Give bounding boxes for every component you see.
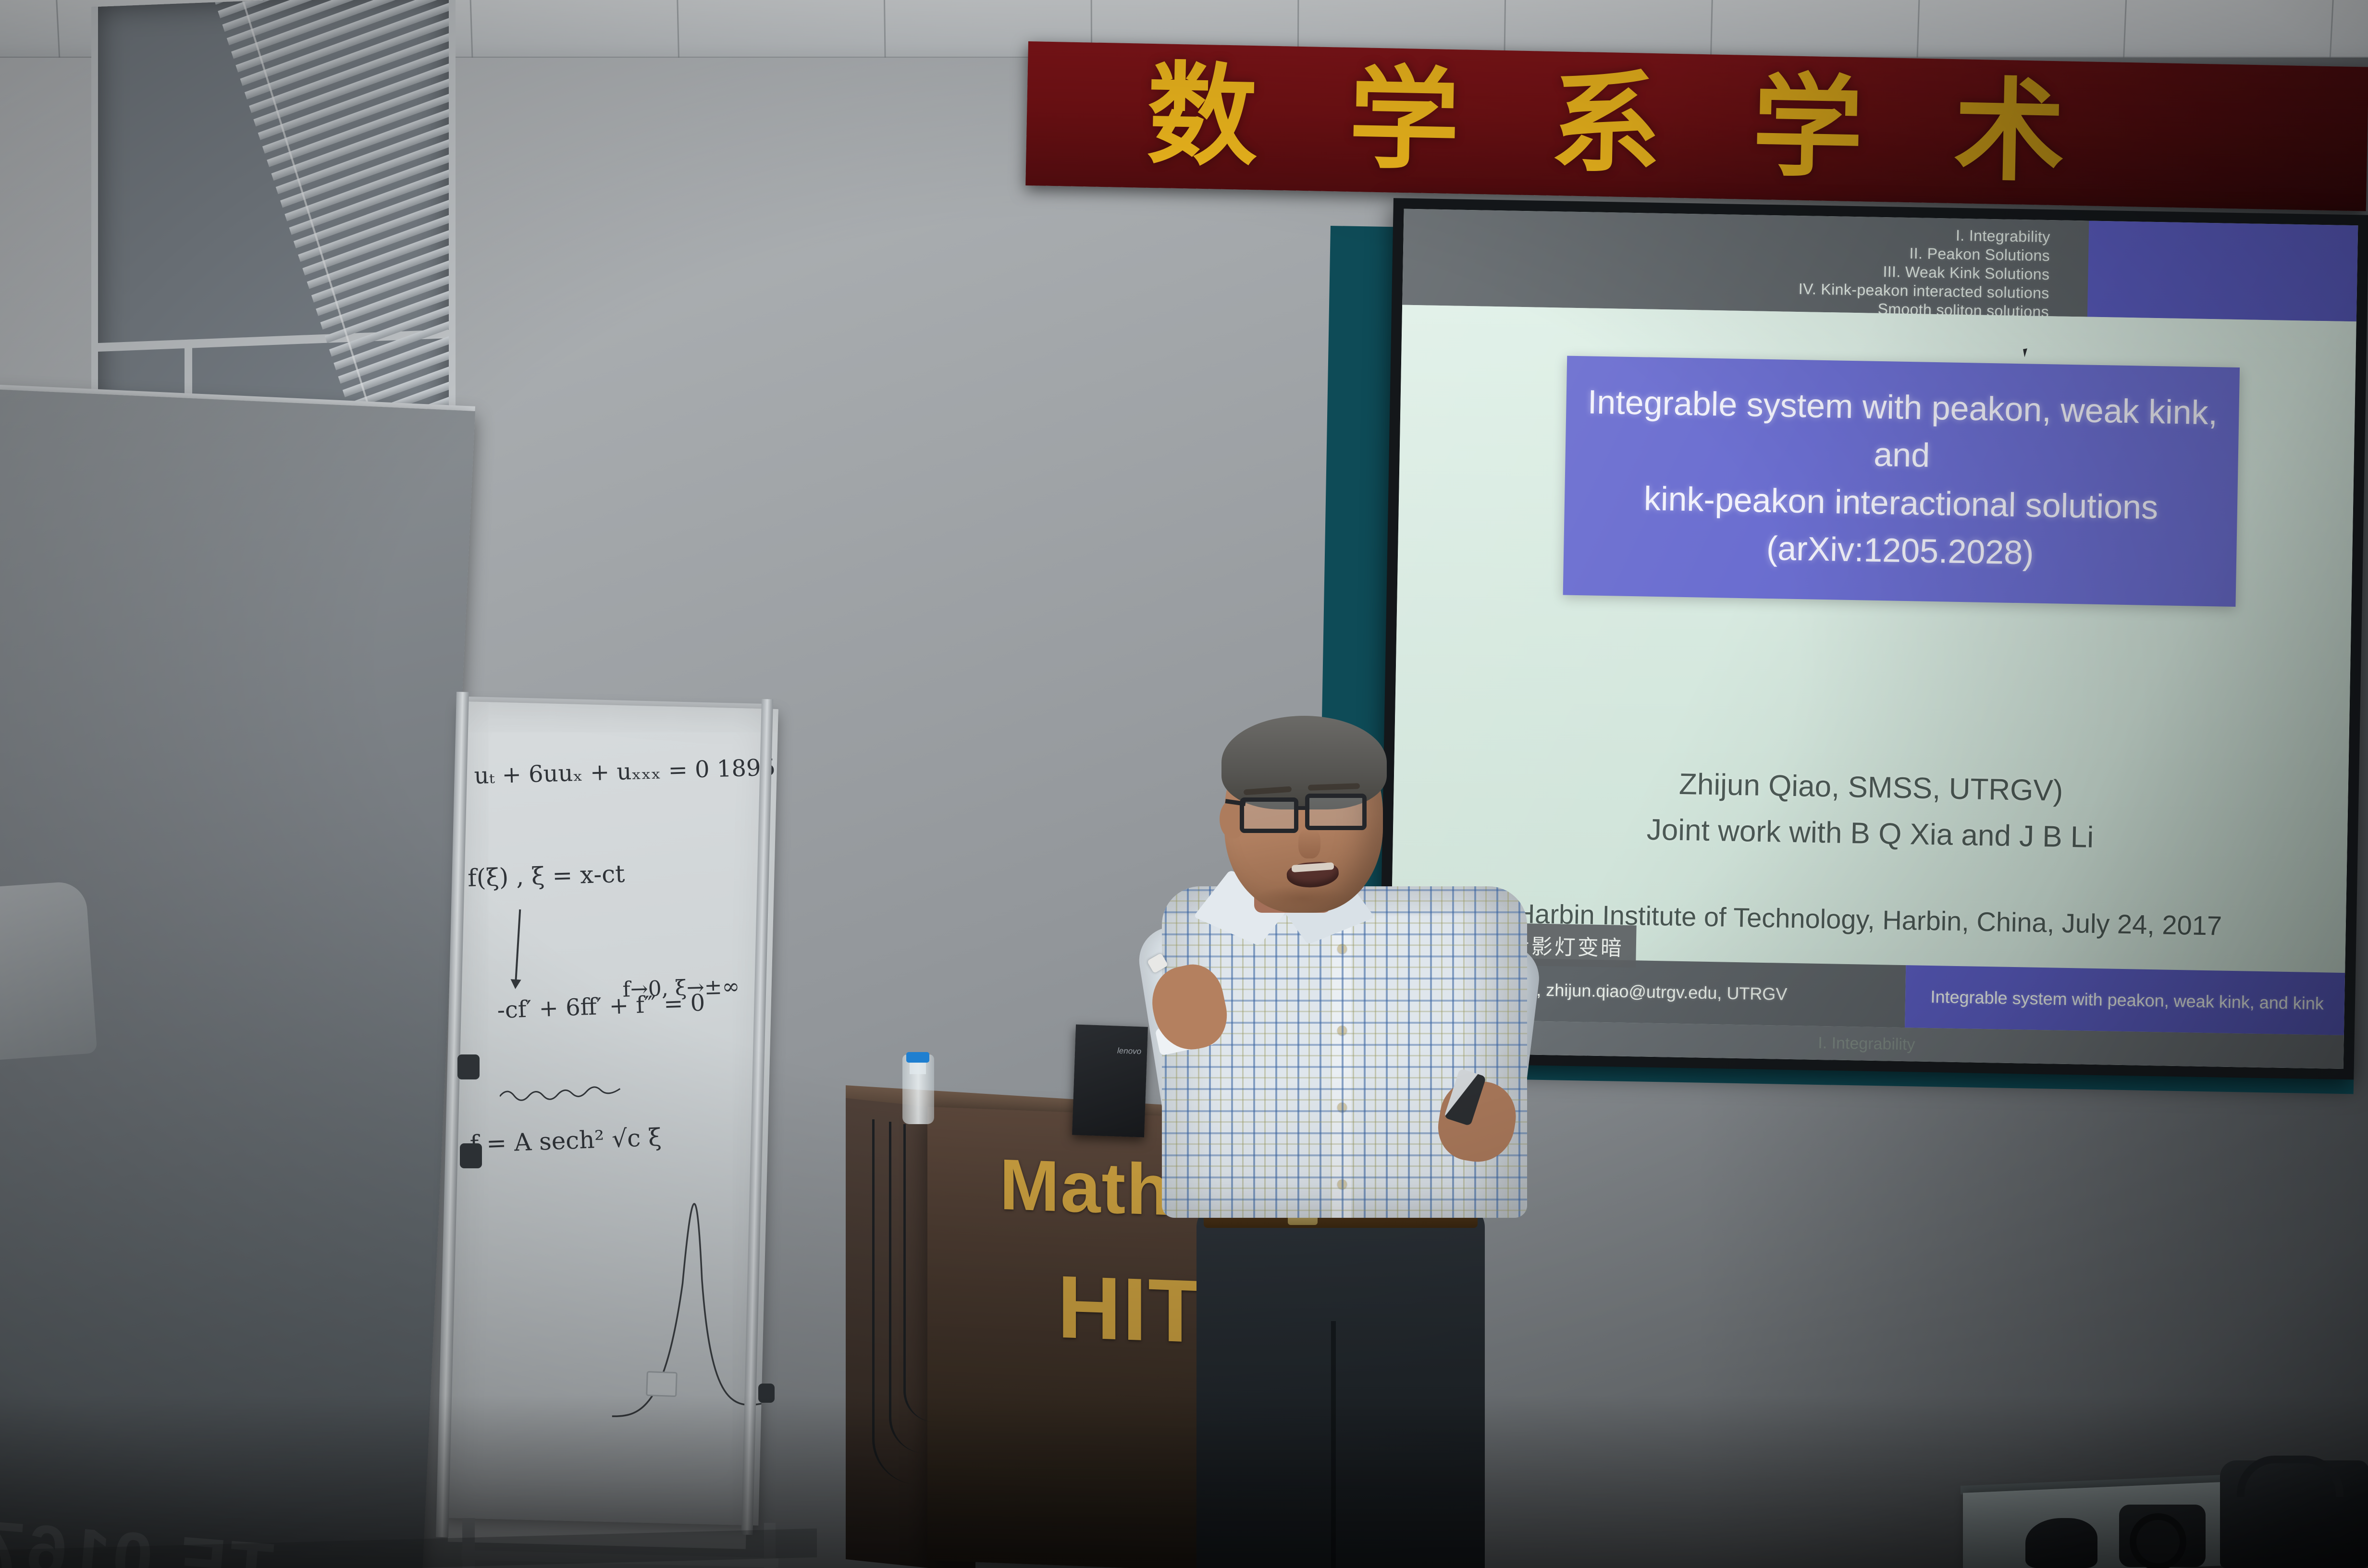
mouse-cursor-icon <box>2023 348 2032 357</box>
bag-on-left <box>0 881 97 1060</box>
whiteboard-height-knob-top[interactable] <box>457 1054 480 1079</box>
speaker-chin-shadow <box>1254 885 1350 912</box>
wall-power-socket[interactable] <box>646 1371 678 1397</box>
speaker-shirt <box>1162 886 1527 1218</box>
lecture-hall-photo: 数 学 系 学 术 I. Integrability II. Peakon So… <box>0 0 2368 1568</box>
podium-cable-3 <box>903 1124 935 1422</box>
footer-section: I. Integrability <box>1818 1033 1915 1054</box>
speaker-glasses-right-lens <box>1305 794 1367 830</box>
whiteboard-underline-squiggle <box>500 1082 625 1104</box>
floor-shadow <box>0 1395 2368 1568</box>
whiteboard-limit-note: f→0, ξ→±∞ <box>622 974 740 1002</box>
speaker-glasses-left-lens <box>1240 797 1298 833</box>
speaker-glasses-bridge <box>1297 806 1309 810</box>
slide-title-box: Integrable system with peakon, weak kink… <box>1563 356 2240 607</box>
footer-title: Integrable system with peakon, weak kink… <box>1930 987 2324 1014</box>
title-line-1: Integrable system with peakon, weak kink… <box>1584 378 2220 485</box>
whiteboard-arrow <box>515 909 521 986</box>
water-bottle-neck <box>910 1062 926 1074</box>
chinese-banner: 数 学 系 学 术 <box>1025 41 2368 211</box>
whiteboard-height-knob-bottom[interactable] <box>460 1143 482 1168</box>
banner-shading <box>1025 41 2368 211</box>
footer-right: Integrable system with peakon, weak kink… <box>1905 965 2345 1035</box>
slide-table-of-contents: I. Integrability II. Peakon Solutions II… <box>1472 218 2050 321</box>
whiteboard-equation-4: f = A sech² √c ξ <box>469 1123 662 1158</box>
water-bottle-cap[interactable] <box>906 1052 929 1063</box>
whiteboard-equation-2: f(ξ) , ξ = x‑ct <box>467 860 625 892</box>
speaker-nose <box>1298 829 1320 858</box>
whiteboard-equation-1: uₜ + 6uuₓ + uₓₓₓ = 0 1895 <box>474 754 776 790</box>
slide-header-accent <box>2087 221 2358 322</box>
